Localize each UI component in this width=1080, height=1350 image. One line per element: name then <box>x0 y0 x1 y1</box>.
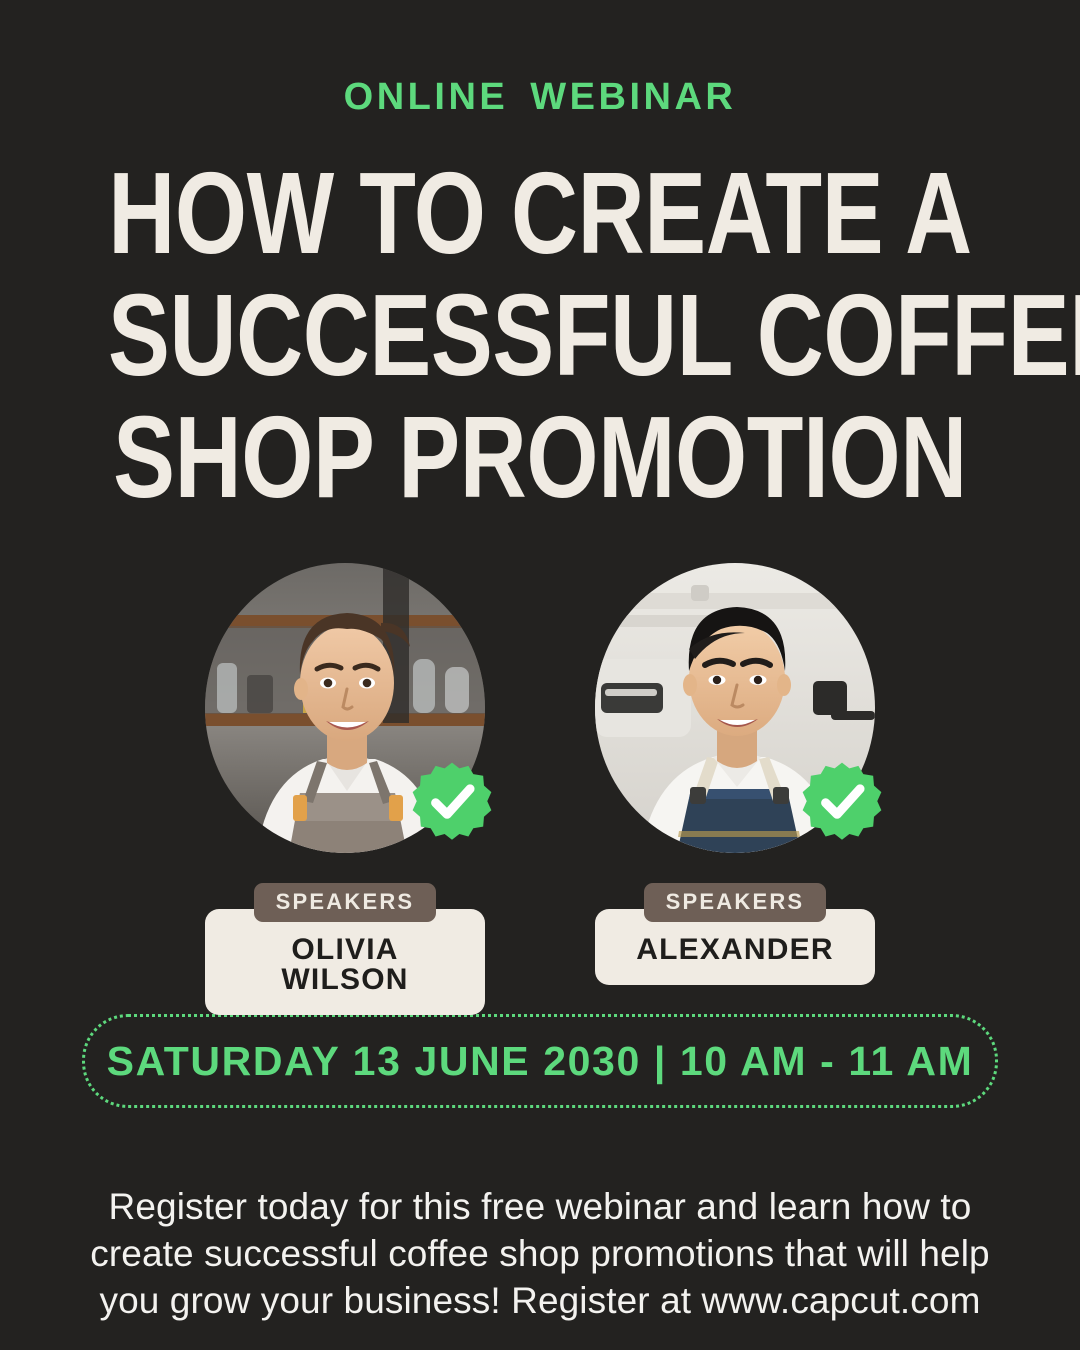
nameplate-wrap: SPEAKERS ALEXANDER <box>595 883 875 985</box>
speaker-card-alexander: SPEAKERS ALEXANDER <box>595 563 875 1015</box>
speakers-tag: SPEAKERS <box>644 883 827 922</box>
eyebrow-label: ONLINE WEBINAR <box>0 76 1080 119</box>
registration-paragraph: Register today for this free webinar and… <box>90 1183 990 1324</box>
title-line-2: SUCCESSFUL COFFEE <box>108 274 972 396</box>
verified-check-icon <box>411 761 493 843</box>
nameplate-wrap: SPEAKERS OLIVIA WILSON <box>205 883 485 1015</box>
webinar-poster: ONLINE WEBINAR HOW TO CREATE A SUCCESSFU… <box>0 0 1080 1350</box>
date-time-banner: SATURDAY 13 JUNE 2030 | 10 AM - 11 AM <box>82 1014 998 1108</box>
speaker-name: OLIVIA WILSON <box>205 909 485 1015</box>
speaker-card-olivia-wilson: SPEAKERS OLIVIA WILSON <box>205 563 485 1015</box>
title-line-1: HOW TO CREATE A <box>108 152 972 274</box>
verified-check-icon <box>801 761 883 843</box>
date-time-text: SATURDAY 13 JUNE 2030 | 10 AM - 11 AM <box>107 1038 974 1085</box>
title-line-3: SHOP PROMOTION <box>108 396 972 518</box>
page-title: HOW TO CREATE A SUCCESSFUL COFFEE SHOP P… <box>0 152 1080 518</box>
avatar-wrap <box>205 563 485 853</box>
speakers-tag: SPEAKERS <box>254 883 437 922</box>
avatar-wrap <box>595 563 875 853</box>
speakers-row: SPEAKERS OLIVIA WILSON <box>0 563 1080 1015</box>
